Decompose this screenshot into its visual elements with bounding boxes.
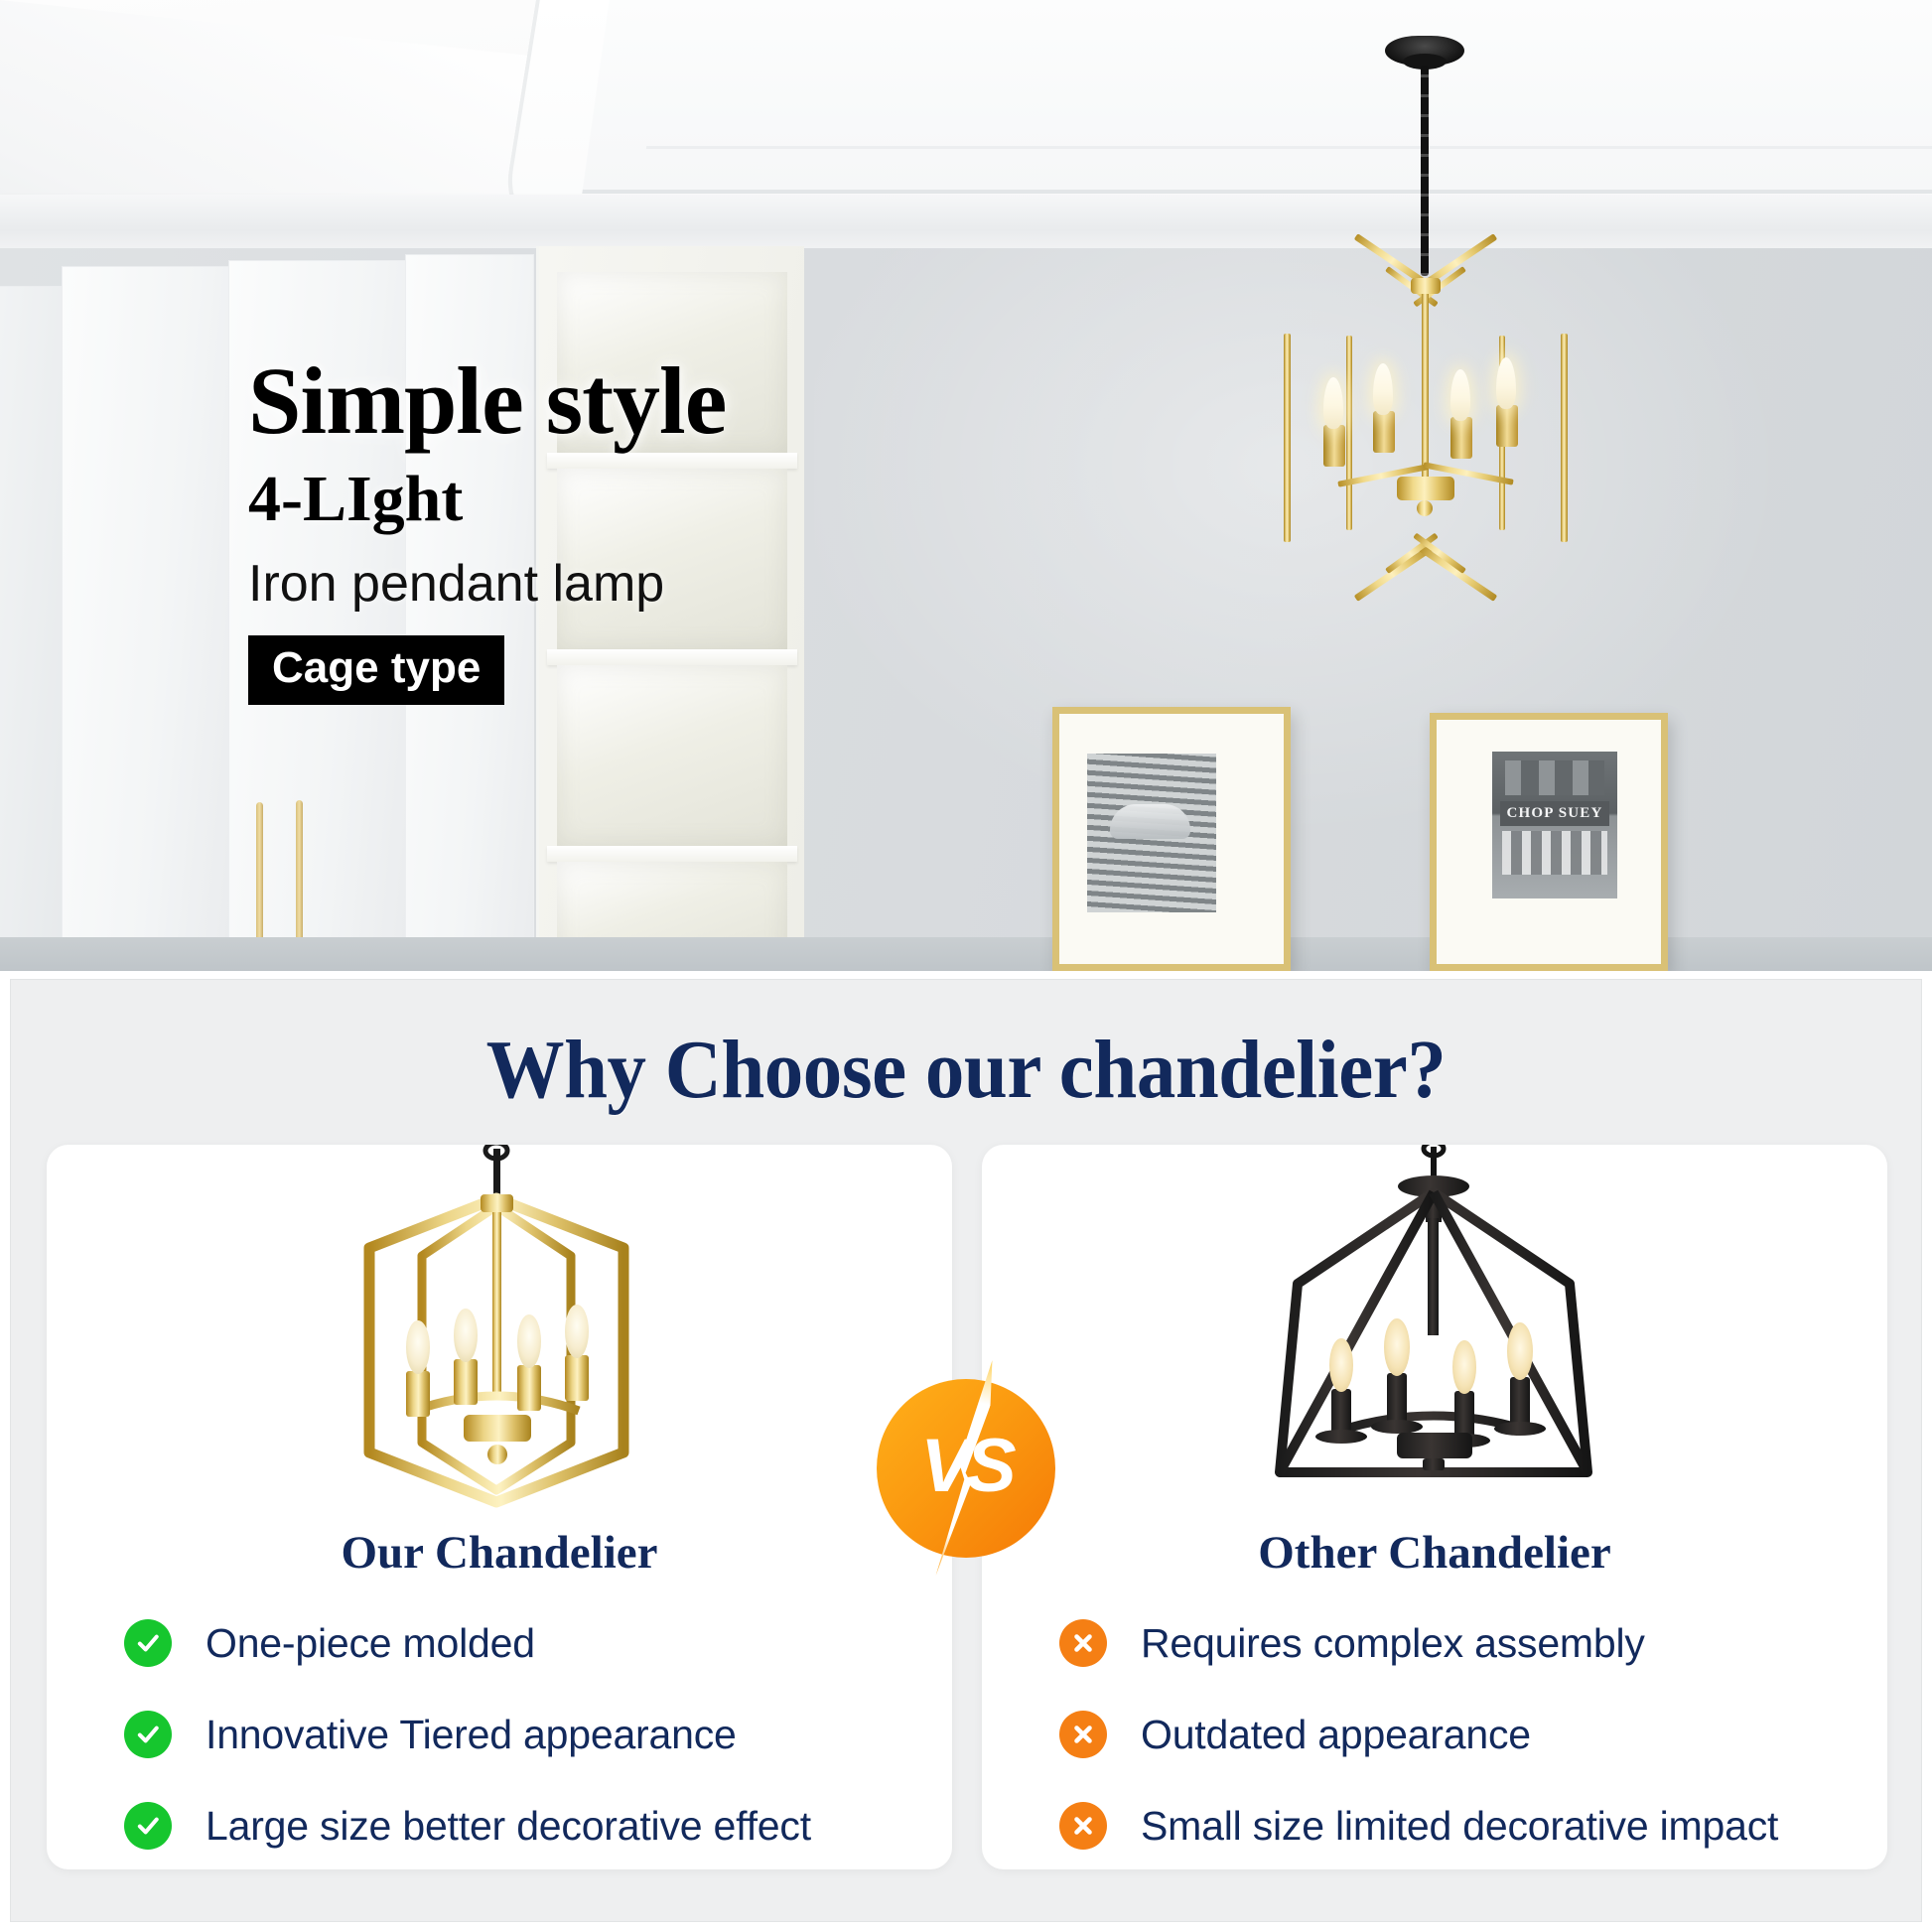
list-item: Requires complex assembly (1059, 1619, 1887, 1667)
comparison-title: Why Choose our chandelier? (69, 1022, 1864, 1118)
storefront-sign: CHOP SUEY (1500, 801, 1610, 826)
list-item: One-piece molded (124, 1619, 952, 1667)
storefront-upper-windows (1505, 760, 1605, 796)
hero-chandelier (1246, 28, 1603, 643)
product-marketing-page: CHOP SUEY Simple style 4-LIght Iron pend… (0, 0, 1932, 1932)
other-chandelier-label: Other Chandelier (982, 1526, 1887, 1580)
check-icon (124, 1619, 172, 1667)
photo-blinds (1087, 754, 1216, 912)
list-item-label: Innovative Tiered appearance (206, 1712, 737, 1758)
list-item-label: Outdated appearance (1141, 1712, 1531, 1758)
storefront-texture: CHOP SUEY (1492, 752, 1617, 898)
hero-section: CHOP SUEY Simple style 4-LIght Iron pend… (0, 0, 1932, 971)
cabinet-panel-edge (0, 286, 69, 971)
list-item-label: Requires complex assembly (1141, 1620, 1645, 1667)
other-chandelier-photo (982, 1145, 1887, 1522)
cross-icon (1059, 1619, 1107, 1667)
finial (1417, 500, 1433, 516)
our-chandelier-bullets: One-piece molded Innovative Tiered appea… (47, 1619, 952, 1850)
our-chandelier-photo (47, 1145, 952, 1522)
storefront-sign-text: CHOP SUEY (1506, 805, 1602, 822)
comparison-section: Why Choose our chandelier? (10, 979, 1922, 1922)
check-icon (124, 1711, 172, 1758)
candle-bulb-4 (1496, 357, 1516, 409)
gold-cage-chandelier-illustration (47, 1145, 952, 1522)
storefront-columns (1502, 831, 1607, 875)
cross-icon (1059, 1711, 1107, 1758)
photo-storefront: CHOP SUEY (1492, 752, 1617, 898)
list-item-label: Large size better decorative effect (206, 1803, 811, 1850)
candle-socket-2 (1373, 411, 1395, 453)
center-stem (1422, 284, 1429, 483)
cabinet-handle-2 (296, 800, 303, 949)
cage-outer-bar-left (1284, 334, 1291, 542)
black-lantern-chandelier-illustration (982, 1145, 1887, 1522)
hero-copy-block: Simple style 4-LIght Iron pendant lamp C… (248, 352, 963, 705)
other-chandelier-bullets: Requires complex assembly Outdated appea… (982, 1619, 1887, 1850)
car-silhouette (1110, 804, 1190, 839)
picture-frame-right: CHOP SUEY (1430, 713, 1668, 971)
list-item-label: One-piece molded (206, 1620, 535, 1667)
card-other-chandelier: Other Chandelier Requires complex assemb… (982, 1145, 1887, 1869)
shelf-divider-3 (547, 846, 797, 862)
candle-socket-3 (1450, 417, 1472, 459)
hanging-chain (1421, 66, 1429, 276)
cabinet-handle-1 (256, 802, 263, 951)
cage-top-cap (1411, 278, 1441, 294)
cross-icon (1059, 1802, 1107, 1850)
list-item: Small size limited decorative impact (1059, 1802, 1887, 1850)
cage-type-badge: Cage type (248, 635, 504, 705)
our-chandelier-label: Our Chandelier (47, 1526, 952, 1580)
picture-frame-left (1052, 707, 1291, 971)
candle-bulb-3 (1450, 369, 1470, 421)
candle-socket-1 (1323, 425, 1345, 467)
cage-inner-bar-left (1346, 336, 1352, 530)
hero-description: Iron pendant lamp (248, 554, 963, 614)
candle-socket-4 (1496, 405, 1518, 447)
center-hub (1397, 477, 1454, 500)
hero-title: Simple style (248, 352, 963, 450)
list-item: Innovative Tiered appearance (124, 1711, 952, 1758)
cabinet-door-1 (62, 266, 230, 971)
candle-bulb-1 (1323, 377, 1343, 429)
list-item: Large size better decorative effect (124, 1802, 952, 1850)
card-our-chandelier: Our Chandelier One-piece molded Innovati… (47, 1145, 952, 1869)
cage-outer-bar-bottom-right (1418, 545, 1497, 602)
check-icon (124, 1802, 172, 1850)
vs-badge: VS (877, 1379, 1055, 1558)
ceiling-drop-shadow (0, 195, 1932, 254)
cage-outer-bar-right (1561, 334, 1568, 542)
hero-subtitle: 4-LIght (248, 464, 963, 536)
list-item-label: Small size limited decorative impact (1141, 1803, 1778, 1850)
list-item: Outdated appearance (1059, 1711, 1887, 1758)
candle-bulb-2 (1373, 363, 1393, 415)
